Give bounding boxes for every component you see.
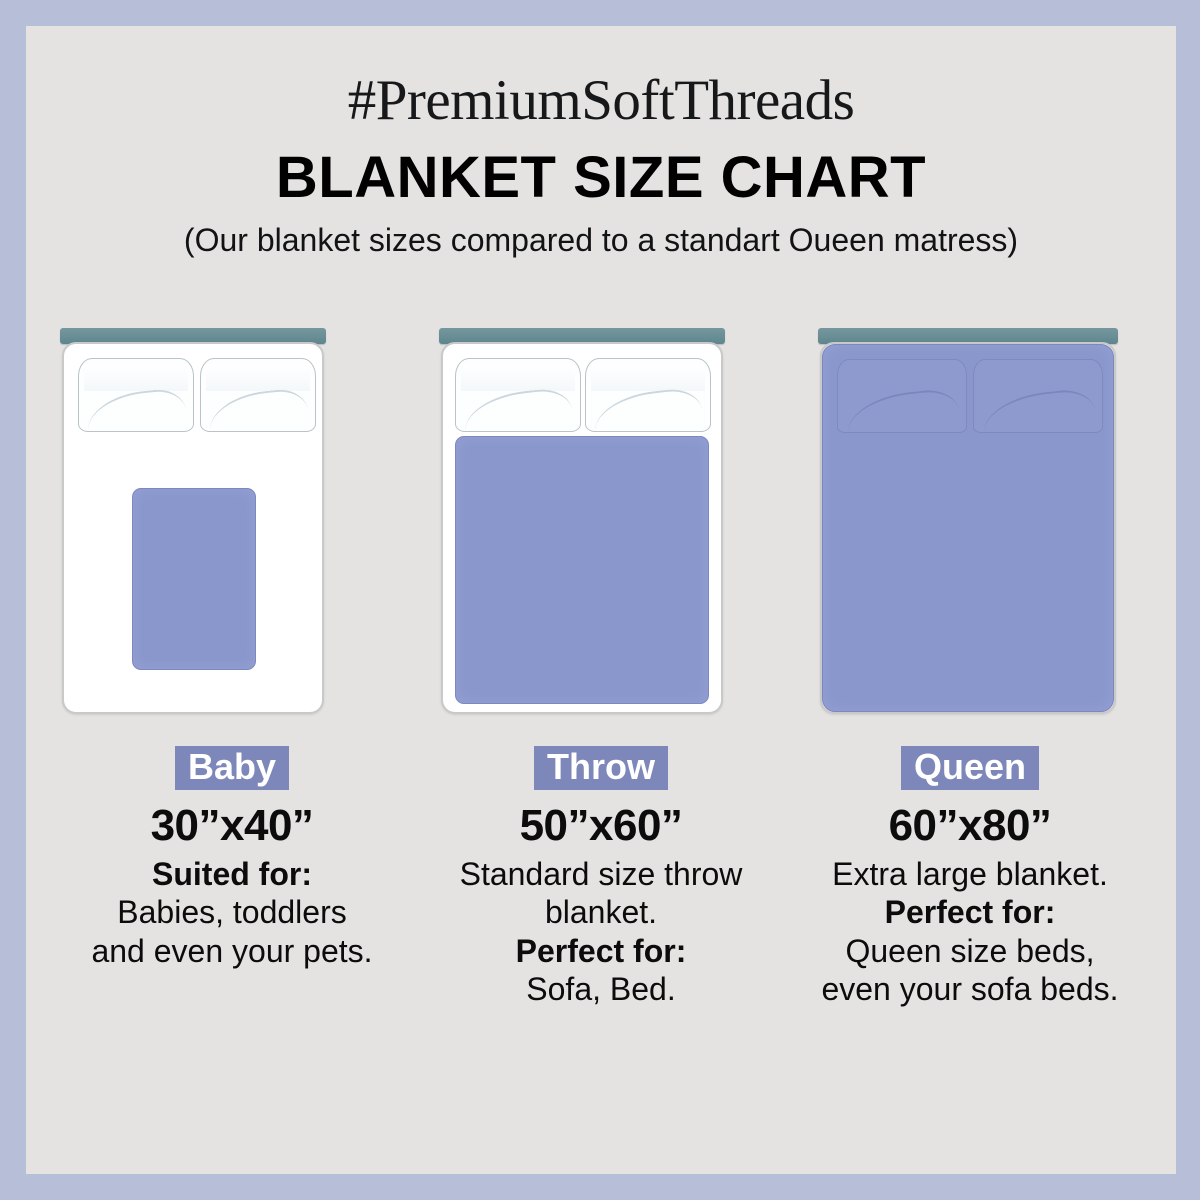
pillow-right-icon — [973, 359, 1103, 433]
desc-line: Standard size throw — [425, 855, 777, 893]
size-columns: Baby 30”x40” Suited for: Babies, toddler… — [26, 316, 1176, 1009]
caption-baby: Baby 30”x40” Suited for: Babies, toddler… — [56, 746, 408, 970]
desc-line: and even your pets. — [56, 932, 408, 970]
blanket-swatch-baby — [132, 488, 256, 670]
size-badge-baby: Baby — [175, 746, 289, 790]
size-column-baby: Baby 30”x40” Suited for: Babies, toddler… — [56, 316, 408, 1009]
desc-line: Extra large blanket. — [794, 855, 1146, 893]
bed-illustration-baby — [56, 316, 408, 728]
size-column-queen: Queen 60”x80” Extra large blanket. Perfe… — [794, 316, 1146, 1009]
size-description-baby: Suited for: Babies, toddlers and even yo… — [56, 855, 408, 970]
page-subtitle: (Our blanket sizes compared to a standar… — [26, 222, 1176, 259]
desc-line: Perfect for: — [794, 893, 1146, 931]
size-badge-queen: Queen — [901, 746, 1039, 790]
desc-line: Babies, toddlers — [56, 893, 408, 931]
bed-illustration-throw — [425, 316, 777, 728]
pillow-right-icon — [200, 358, 316, 432]
size-description-queen: Extra large blanket. Perfect for: Queen … — [794, 855, 1146, 1009]
page-title: BLANKET SIZE CHART — [26, 144, 1176, 211]
size-badge-throw: Throw — [534, 746, 668, 790]
desc-line: Queen size beds, — [794, 932, 1146, 970]
desc-line: Sofa, Bed. — [425, 970, 777, 1008]
pillow-left-icon — [455, 358, 581, 432]
bed-illustration-queen — [794, 316, 1146, 728]
blanket-swatch-throw — [455, 436, 709, 704]
size-dimensions-queen: 60”x80” — [794, 803, 1146, 849]
size-column-throw: Throw 50”x60” Standard size throw blanke… — [425, 316, 777, 1009]
caption-throw: Throw 50”x60” Standard size throw blanke… — [425, 746, 777, 1009]
size-dimensions-baby: 30”x40” — [56, 803, 408, 849]
size-description-throw: Standard size throw blanket. Perfect for… — [425, 855, 777, 1009]
poster-frame: #PremiumSoftThreads BLANKET SIZE CHART (… — [0, 0, 1200, 1200]
chart-canvas: #PremiumSoftThreads BLANKET SIZE CHART (… — [26, 26, 1176, 1174]
pillow-right-icon — [585, 358, 711, 432]
brand-hashtag: #PremiumSoftThreads — [26, 68, 1176, 133]
caption-queen: Queen 60”x80” Extra large blanket. Perfe… — [794, 746, 1146, 1009]
desc-line: Perfect for: — [425, 932, 777, 970]
size-dimensions-throw: 50”x60” — [425, 803, 777, 849]
desc-line: blanket. — [425, 893, 777, 931]
pillow-left-icon — [78, 358, 194, 432]
blanket-swatch-queen — [822, 344, 1114, 712]
pillow-left-icon — [837, 359, 967, 433]
desc-line: even your sofa beds. — [794, 970, 1146, 1008]
desc-line: Suited for: — [56, 855, 408, 893]
